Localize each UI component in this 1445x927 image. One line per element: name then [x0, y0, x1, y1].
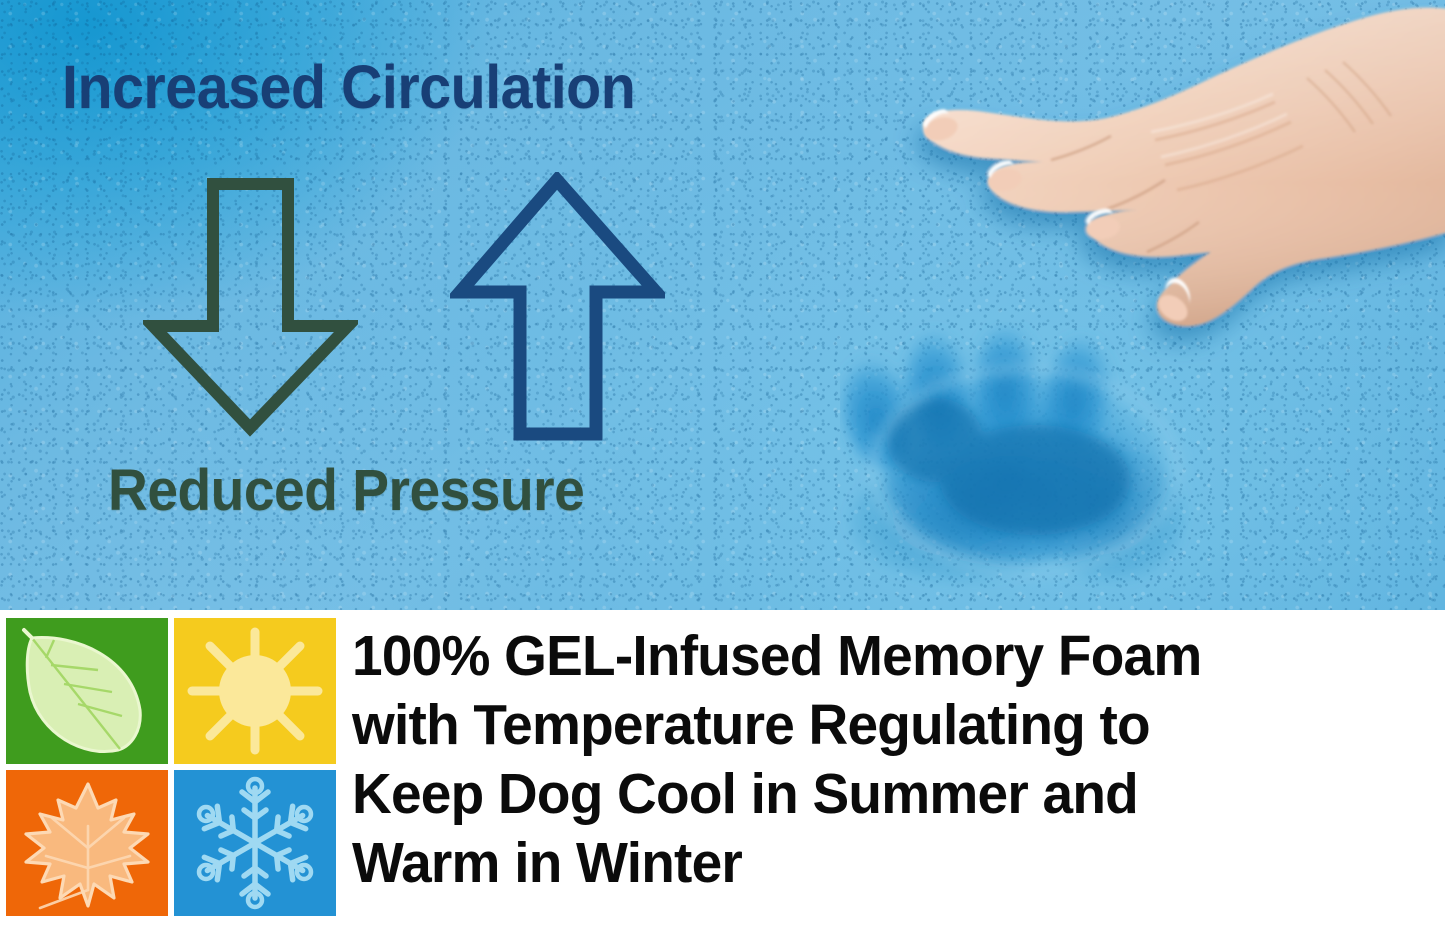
winter-snow-tile: [174, 770, 336, 916]
summer-sun-tile: [174, 618, 336, 764]
reduced-pressure-label: Reduced Pressure: [108, 462, 584, 520]
leaf-icon: [6, 618, 168, 764]
copy-line-1: 100% GEL-Infused Memory Foam: [352, 622, 1406, 691]
maple-leaf-icon: [6, 770, 168, 916]
autumn-leaf-tile: [6, 770, 168, 916]
product-feature-graphic: Increased Circulation Reduced Pressure: [0, 0, 1445, 927]
arrow-up-icon: [450, 172, 665, 444]
marketing-copy-text: 100% GEL-Infused Memory Foam with Temper…: [352, 622, 1406, 898]
spring-leaf-tile: [6, 618, 168, 764]
sun-icon: [174, 618, 336, 764]
copy-line-4: Warm in Winter: [352, 829, 1406, 898]
arrow-down-icon: [143, 176, 358, 438]
snowflake-icon: [174, 770, 336, 916]
season-icon-grid: [6, 618, 336, 918]
memory-foam-photo-panel: Increased Circulation Reduced Pressure: [0, 0, 1445, 610]
increased-circulation-label: Increased Circulation: [62, 57, 635, 118]
copy-line-3: Keep Dog Cool in Summer and: [352, 760, 1406, 829]
copy-line-2: with Temperature Regulating to: [352, 691, 1406, 760]
feature-caption-bar: 100% GEL-Infused Memory Foam with Temper…: [0, 610, 1445, 927]
hand-image: [855, 0, 1445, 450]
